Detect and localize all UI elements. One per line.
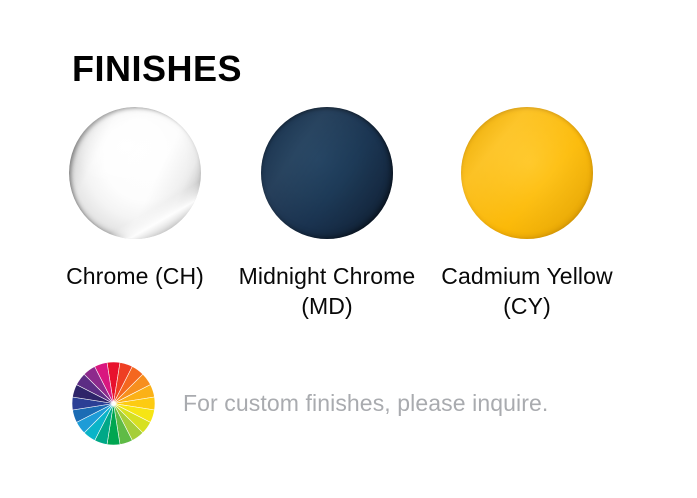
finish-swatch-chrome[interactable]: Chrome (CH) xyxy=(35,107,235,291)
color-wheel-icon[interactable] xyxy=(72,362,155,445)
swatch-disc-wrap xyxy=(261,107,393,239)
finish-label-chrome: Chrome (CH) xyxy=(66,261,204,291)
midnight-chrome-finish-disc[interactable] xyxy=(261,107,393,239)
finish-swatch-cadmium-yellow[interactable]: Cadmium Yellow (CY) xyxy=(427,107,627,322)
cadmium-yellow-finish-disc[interactable] xyxy=(461,107,593,239)
swatch-disc-wrap xyxy=(461,107,593,239)
swatch-disc-wrap xyxy=(69,107,201,239)
finish-swatch-row: Chrome (CH) Midnight Chrome (MD) Cadmium… xyxy=(0,107,697,327)
finish-label-midnight-chrome: Midnight Chrome (MD) xyxy=(237,261,417,322)
custom-finishes-row: For custom finishes, please inquire. xyxy=(72,362,548,445)
finish-label-cadmium-yellow: Cadmium Yellow (CY) xyxy=(437,261,617,322)
finish-swatch-midnight-chrome[interactable]: Midnight Chrome (MD) xyxy=(227,107,427,322)
finishes-page: FINISHES Chrome (CH) Midnight Chrome (MD… xyxy=(0,0,697,498)
page-title: FINISHES xyxy=(72,50,242,88)
chrome-finish-disc[interactable] xyxy=(69,107,201,239)
custom-finishes-note: For custom finishes, please inquire. xyxy=(183,390,548,417)
